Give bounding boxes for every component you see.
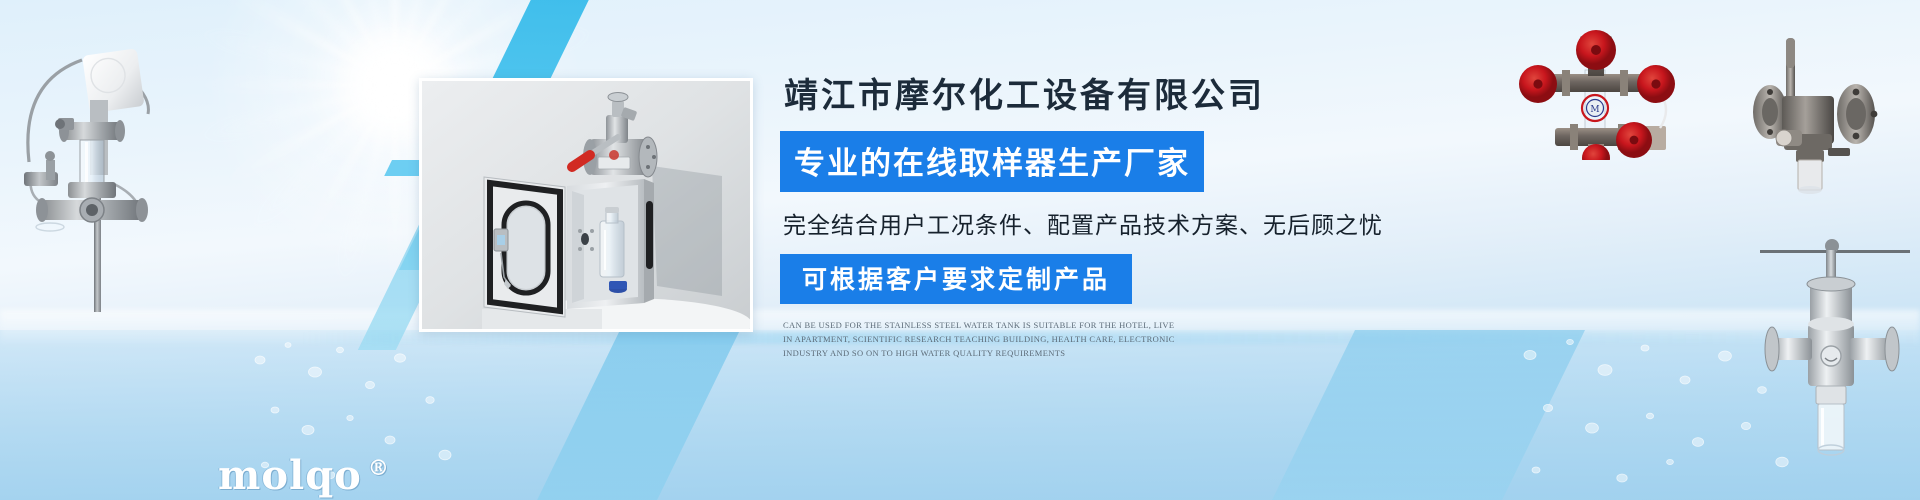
flanged-lever-sampling-valve-image	[1740, 24, 1910, 214]
promo-banner: M	[0, 0, 1920, 500]
value-proposition-line: 完全结合用户工况条件、配置产品技术方案、无后顾之忧	[783, 206, 1420, 240]
pole-mounted-sampler-image	[2, 22, 172, 312]
cross-valve-manifold-image: M	[1510, 30, 1685, 160]
sampler-cabinet-photo	[419, 78, 753, 332]
watermark-text: molqo	[218, 452, 362, 499]
watermark-logo: molqo®	[218, 452, 390, 499]
tagline-highlight: 专业的在线取样器生产厂家	[780, 131, 1204, 192]
customization-highlight: 可根据客户要求定制产品	[780, 254, 1132, 304]
vertical-flanged-sampling-valve-image	[1760, 228, 1910, 468]
svg-text:M: M	[1590, 105, 1599, 115]
water-droplets-right-icon	[1500, 330, 1800, 500]
company-name: 靖江市摩尔化工设备有限公司	[784, 76, 1420, 117]
banner-text-column: 靖江市摩尔化工设备有限公司 专业的在线取样器生产厂家 完全结合用户工况条件、配置…	[780, 76, 1420, 360]
english-description: CAN BE USED FOR THE STAINLESS STEEL WATE…	[783, 318, 1183, 360]
registered-trademark-icon: ®	[368, 455, 390, 480]
